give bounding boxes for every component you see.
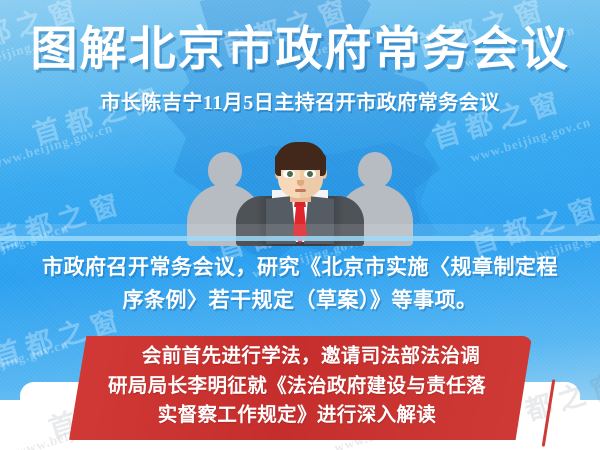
infographic-poster: 首都之窗 www.beijing.gov.cn 首都之窗 www.beijing… [0,0,600,450]
hair-side-right [320,154,326,176]
banner-line-3: 实督察工作规定》进行深入解读 [62,401,532,431]
page-subtitle: 市长陈吉宁11月5日主持召开市政府常务会议 [0,86,600,115]
pupil-right [307,171,313,177]
pupil-left [287,171,293,177]
banner-line-1: 会前首先进行学法，邀请司法部法治调 [62,342,532,372]
hair-side-left [275,154,281,176]
highlight-banner-text: 会前首先进行学法，邀请司法部法治调 研局局长李明征就《法治政府建设与责任落 实督… [62,342,532,431]
banner-line-2: 研局局长李明征就《法治政府建设与责任落 [62,372,532,402]
hair [275,142,326,170]
mouth [295,189,306,192]
page-title: 图解北京市政府常务会议 [0,26,600,76]
desk-surface [0,224,600,236]
title-block: 图解北京市政府常务会议 市长陈吉宁11月5日主持召开市政府常务会议 [0,26,600,115]
desk-edge-line [0,236,600,241]
summary-paragraph: 市政府召开常务会议，研究《北京市实施〈规章制定程序条例〉若干规定（草案）》等事项… [38,252,562,317]
